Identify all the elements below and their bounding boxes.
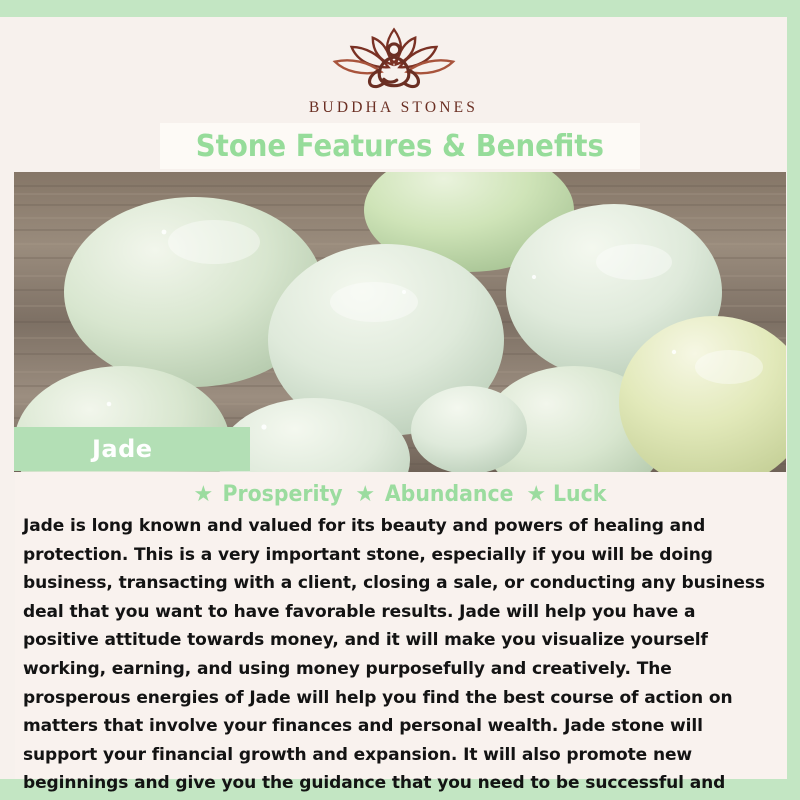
stone-name-label: Jade [92,435,153,463]
decor-green-strip-right [786,0,800,172]
star-icon: ★ [194,483,214,505]
star-icon: ★ [526,483,546,505]
lotus-meditation-icon [320,22,468,94]
decor-green-band-top [205,0,800,18]
content-panel: ★ Prosperity ★ Abundance ★ Luck Jade is … [15,472,787,779]
brand-logo: BUDDHA STONES [0,22,787,117]
benefit-label: Prosperity [223,482,343,507]
stone-description: Jade is long known and valued for its be… [23,512,768,800]
benefit-item: ★ Abundance [355,482,518,507]
benefit-label: Luck [553,482,606,507]
poster-root: BUDDHA STONES Stone Features & Benefits [0,0,800,800]
benefit-label: Abundance [385,482,514,507]
page-title: Stone Features & Benefits [196,129,604,164]
brand-name: BUDDHA STONES [309,99,478,117]
star-icon: ★ [355,483,375,505]
stone-name-badge: Jade [14,427,250,471]
banner-title-band: Stone Features & Benefits [160,123,640,169]
benefit-item: ★ Prosperity [194,482,348,507]
benefit-item: ★ Luck [526,482,608,507]
benefits-row: ★ Prosperity ★ Abundance ★ Luck [15,472,787,510]
